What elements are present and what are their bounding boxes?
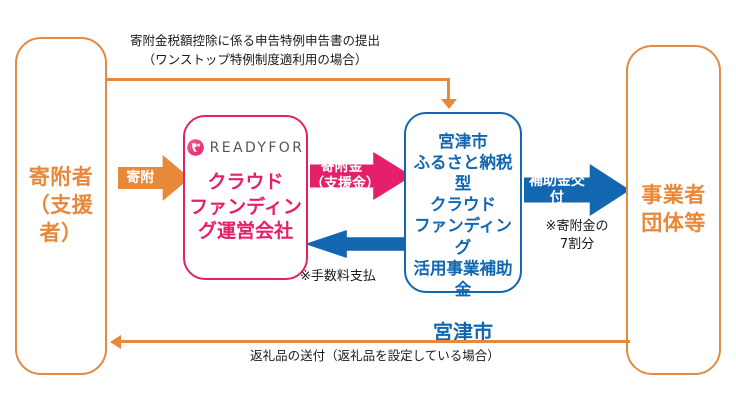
donation-money-arrow-label: 寄附金 （支援金） [310, 159, 373, 193]
readyfor-mark-icon [187, 139, 204, 156]
readyfor-wordmark: READYFOR [210, 140, 305, 156]
donation-arrow-label: 寄附 [118, 170, 163, 187]
grant-arrow: 補助金交付 [524, 164, 630, 216]
business-box: 事業者 団体等 [626, 45, 721, 375]
donation-money-arrow: 寄附金 （支援金） [310, 152, 412, 200]
declaration-filing-caption: 寄附金税額控除に係る申告特例申告書の提出 （ワンストップ特例制度適利用の場合） [110, 32, 400, 70]
diagram-canvas: 寄附金税額控除に係る申告特例申告書の提出 （ワンストップ特例制度適利用の場合） … [0, 0, 736, 414]
crowdfunding-box-label: クラウド ファンディン グ運営会社 [189, 170, 302, 244]
grant-arrow-label: 補助金交付 [524, 173, 590, 207]
readyfor-logo: READYFOR [187, 139, 305, 156]
gift-return-arrowhead-icon [110, 335, 121, 349]
donation-arrow: 寄附 [118, 155, 190, 201]
donor-box: 寄附者 （支援者） [15, 37, 107, 375]
fee-payment-note: ※手数料支払 [300, 268, 410, 286]
gift-return-line [120, 340, 630, 343]
declaration-line-arrowhead-icon [441, 99, 457, 109]
donor-box-label: 寄附者 （支援者） [17, 164, 105, 247]
municipality-box: 宮津市 ふるさと納税型 クラウド ファンディング 活用事業補助金 宮津市 [404, 112, 522, 293]
gift-return-caption: 返礼品の送付（返礼品を設定している場合） [230, 347, 520, 366]
declaration-line-horizontal [105, 78, 450, 81]
business-box-label: 事業者 団体等 [641, 182, 706, 237]
municipality-box-title: 宮津市 ふるさと納税型 クラウド ファンディング 活用事業補助金 [406, 131, 520, 300]
grant-ratio-note: ※寄附金の 7割分 [524, 218, 630, 253]
fee-return-arrow [305, 230, 415, 258]
crowdfunding-box: READYFOR クラウド ファンディン グ運営会社 [183, 115, 308, 280]
